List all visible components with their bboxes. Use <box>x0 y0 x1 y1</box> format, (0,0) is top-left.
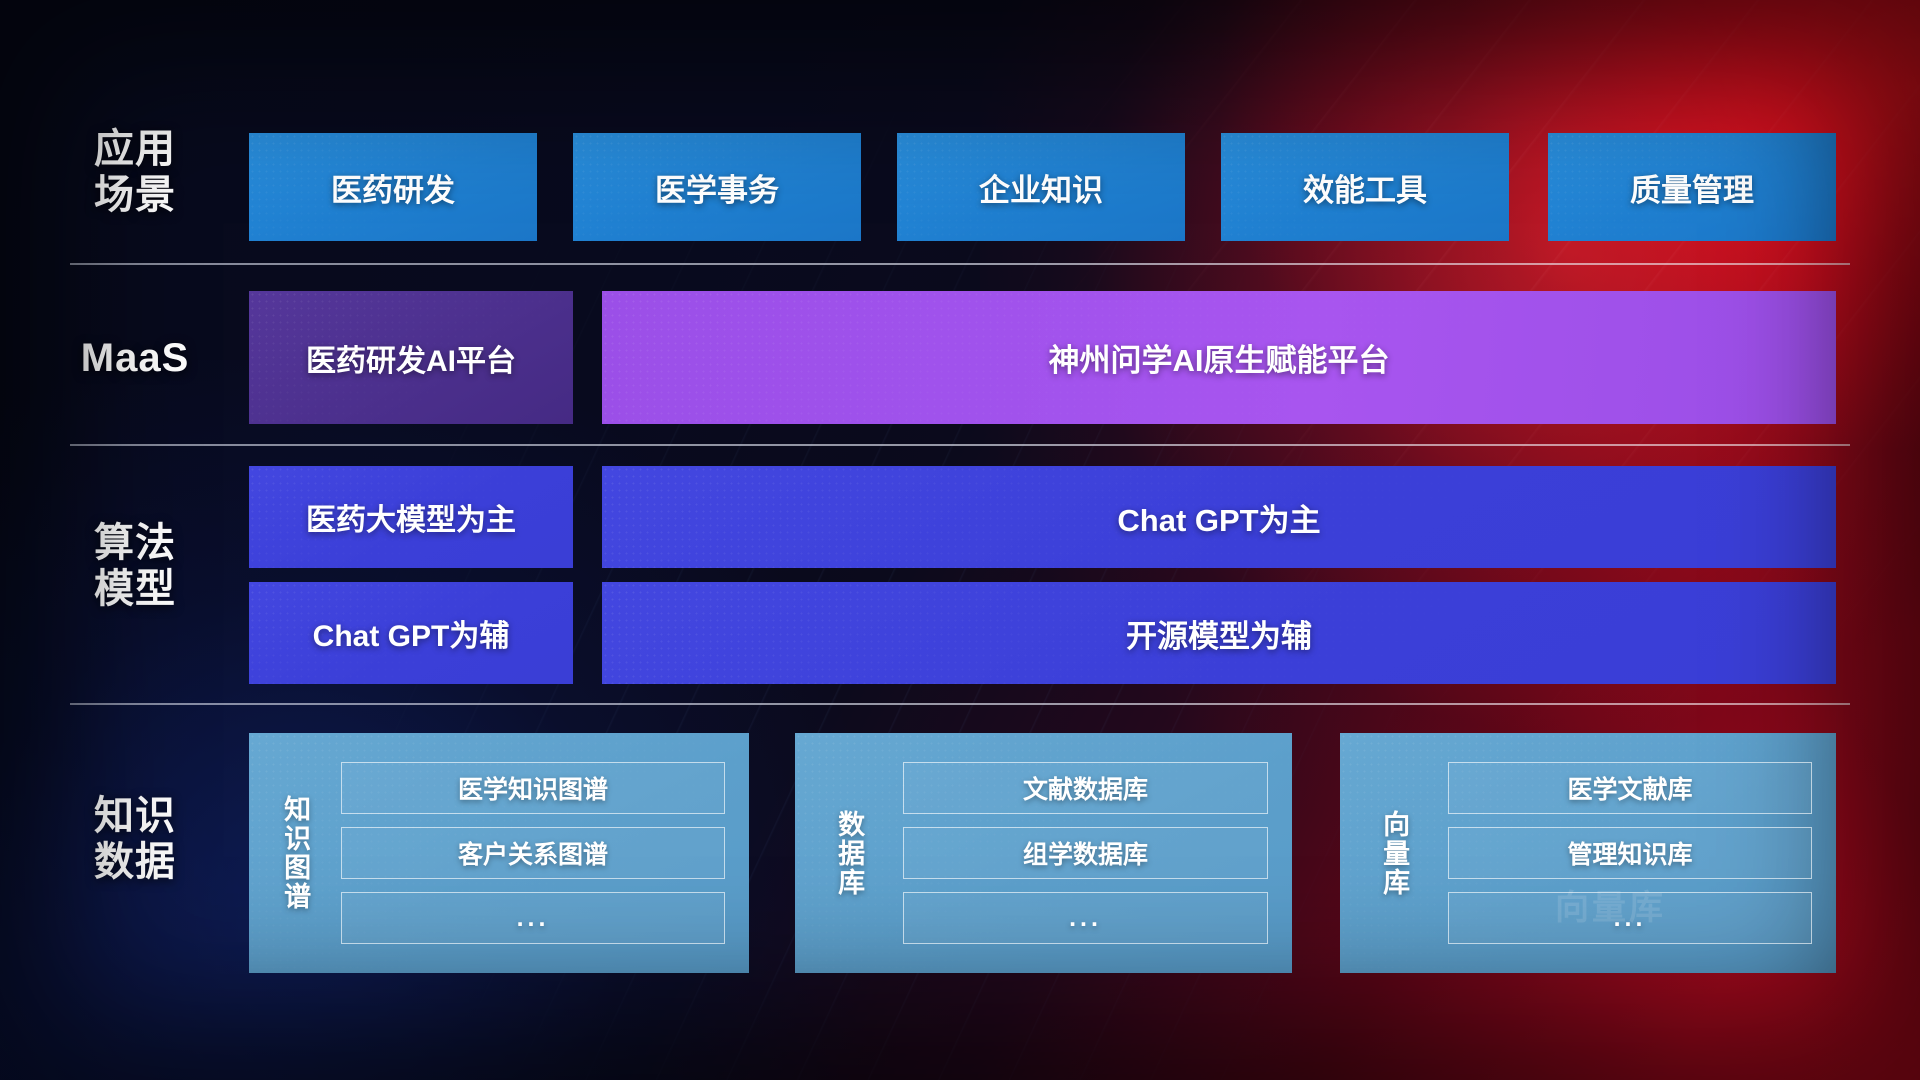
row-label-knowledge-data: 知识 数据 <box>70 793 200 886</box>
algo-box-label: Chat GPT为主 <box>1117 495 1320 540</box>
algo-box-label: Chat GPT为辅 <box>313 611 510 655</box>
maas-box-label: 医药研发AI平台 <box>306 336 516 380</box>
knowledge-item-label: ... <box>517 904 550 933</box>
maas-box-label: 神州问学AI原生赋能平台 <box>1049 335 1390 380</box>
knowledge-item-more[interactable]: ... <box>1448 892 1812 944</box>
app-box-zhiliang-guanli[interactable]: 质量管理 <box>1548 133 1836 241</box>
app-box-label: 效能工具 <box>1303 165 1427 210</box>
algo-box-label: 医药大模型为主 <box>306 495 516 539</box>
knowledge-item[interactable]: 文献数据库 <box>903 762 1268 814</box>
knowledge-item-label: 医学知识图谱 <box>458 770 608 806</box>
knowledge-group-title: 向量库 <box>1340 733 1448 973</box>
knowledge-item-more[interactable]: ... <box>341 892 725 944</box>
algo-box-yiyao-damoxing-weizhu[interactable]: 医药大模型为主 <box>249 466 573 568</box>
algo-box-label: 开源模型为辅 <box>1126 611 1312 656</box>
app-box-xiaoneng-gongju[interactable]: 效能工具 <box>1221 133 1509 241</box>
knowledge-item[interactable]: 医学知识图谱 <box>341 762 725 814</box>
app-box-label: 医学事务 <box>655 165 779 210</box>
knowledge-group-zhishi-tupu[interactable]: 知识图谱 医学知识图谱 客户关系图谱 ... <box>249 733 749 973</box>
slide-canvas: 应用 场景 医药研发 医学事务 企业知识 效能工具 质量管理 MaaS 医药研发… <box>0 0 1920 1080</box>
divider-after-maas <box>70 444 1850 446</box>
app-box-label: 医药研发 <box>331 165 455 210</box>
knowledge-item-label: 组学数据库 <box>1023 835 1148 871</box>
algo-box-kaiyuan-moxing-weifu[interactable]: 开源模型为辅 <box>602 582 1836 684</box>
knowledge-items-list: 医学知识图谱 客户关系图谱 ... <box>341 733 749 973</box>
app-box-qiye-zhishi[interactable]: 企业知识 <box>897 133 1185 241</box>
app-box-yiyao-yanfa[interactable]: 医药研发 <box>249 133 537 241</box>
knowledge-group-xiangliangku[interactable]: 向量库 医学文献库 管理知识库 ... <box>1340 733 1836 973</box>
knowledge-items-list: 医学文献库 管理知识库 ... <box>1448 733 1836 973</box>
app-box-label: 企业知识 <box>979 165 1103 210</box>
knowledge-item-label: ... <box>1614 904 1647 933</box>
maas-box-yiyao-yanfa-ai-pingtai[interactable]: 医药研发AI平台 <box>249 291 573 424</box>
diagram-content: 应用 场景 医药研发 医学事务 企业知识 效能工具 质量管理 MaaS 医药研发… <box>0 0 1920 1080</box>
knowledge-item[interactable]: 组学数据库 <box>903 827 1268 879</box>
knowledge-item-label: 客户关系图谱 <box>458 835 608 871</box>
knowledge-items-list: 文献数据库 组学数据库 ... <box>903 733 1292 973</box>
knowledge-item-label: 医学文献库 <box>1567 770 1692 806</box>
row-label-maas: MaaS <box>70 335 200 381</box>
divider-after-algorithm <box>70 703 1850 705</box>
knowledge-item-label: 管理知识库 <box>1567 835 1692 871</box>
algo-box-chatgpt-weizhu[interactable]: Chat GPT为主 <box>602 466 1836 568</box>
row-label-application-scenarios: 应用 场景 <box>70 126 200 219</box>
knowledge-group-title: 数据库 <box>795 733 903 973</box>
knowledge-item-label: ... <box>1069 904 1102 933</box>
knowledge-item[interactable]: 医学文献库 <box>1448 762 1812 814</box>
knowledge-group-title: 知识图谱 <box>249 733 341 973</box>
knowledge-item-label: 文献数据库 <box>1023 770 1148 806</box>
algo-box-chatgpt-weifu[interactable]: Chat GPT为辅 <box>249 582 573 684</box>
knowledge-item[interactable]: 客户关系图谱 <box>341 827 725 879</box>
knowledge-group-shujuku[interactable]: 数据库 文献数据库 组学数据库 ... <box>795 733 1292 973</box>
maas-box-shenzhou-wenxue-platform[interactable]: 神州问学AI原生赋能平台 <box>602 291 1836 424</box>
row-label-algorithm-model: 算法 模型 <box>70 520 200 613</box>
app-box-yixue-shiwu[interactable]: 医学事务 <box>573 133 861 241</box>
app-box-label: 质量管理 <box>1630 165 1754 210</box>
knowledge-item[interactable]: 管理知识库 <box>1448 827 1812 879</box>
divider-after-application <box>70 263 1850 265</box>
knowledge-item-more[interactable]: ... <box>903 892 1268 944</box>
